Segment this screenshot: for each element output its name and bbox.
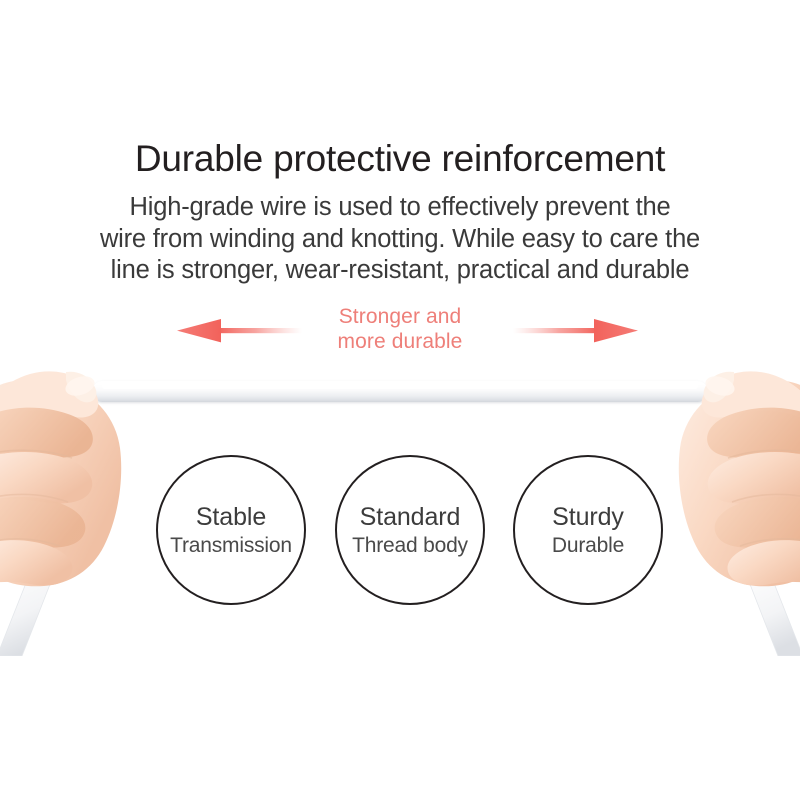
feature-label-stable: Stable Transmission bbox=[156, 455, 306, 605]
arrow-left-icon bbox=[177, 316, 302, 346]
feature-title: Standard bbox=[360, 503, 461, 532]
feature-subtitle: Durable bbox=[552, 533, 624, 558]
arrow-right-icon bbox=[513, 316, 638, 346]
feature-label-standard: Standard Thread body bbox=[335, 455, 485, 605]
description-line-3: line is stronger, wear-resistant, practi… bbox=[24, 255, 776, 287]
feature-label-sturdy: Sturdy Durable bbox=[513, 455, 663, 605]
callout-line-2: more durable bbox=[300, 329, 500, 354]
callout-line-1: Stronger and bbox=[300, 304, 500, 329]
page-title: Durable protective reinforcement bbox=[0, 136, 800, 182]
description-paragraph: High-grade wire is used to effectively p… bbox=[24, 192, 776, 287]
feature-title: Stable bbox=[196, 503, 266, 532]
description-line-1: High-grade wire is used to effectively p… bbox=[24, 192, 776, 224]
feature-title: Sturdy bbox=[552, 503, 624, 532]
stretch-callout: Stronger and more durable bbox=[0, 300, 800, 362]
description-line-2: wire from winding and knotting. While ea… bbox=[24, 224, 776, 256]
feature-subtitle: Transmission bbox=[170, 533, 292, 558]
product-feature-banner: Durable protective reinforcement High-gr… bbox=[0, 0, 800, 800]
feature-subtitle: Thread body bbox=[352, 533, 468, 558]
callout-text: Stronger and more durable bbox=[300, 304, 500, 354]
